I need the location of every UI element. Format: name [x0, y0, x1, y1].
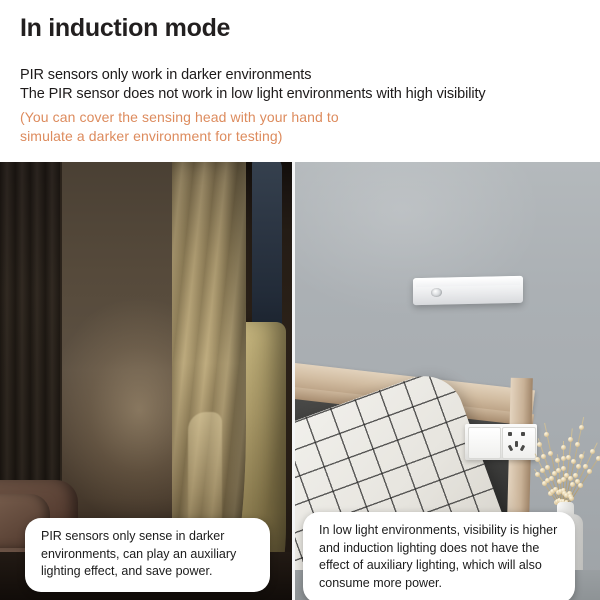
note-line-1: (You can cover the sensing head with you… — [20, 108, 339, 127]
flower-bud — [549, 476, 554, 481]
flower-bud — [571, 459, 576, 464]
flower-bud — [579, 425, 584, 430]
flower-bud — [590, 449, 595, 454]
flower-bud — [575, 442, 580, 447]
light-switch-icon — [468, 427, 501, 459]
flower-bud — [579, 454, 584, 459]
flower-bud — [561, 466, 566, 471]
socket-pin — [515, 441, 518, 447]
flower-bud — [568, 437, 573, 442]
header-text-block: In induction mode PIR sensors only work … — [0, 0, 600, 162]
flower-bud — [561, 445, 566, 450]
flower-bud — [561, 477, 566, 482]
flower-bud — [578, 483, 583, 488]
flower-bud — [545, 465, 550, 470]
note-line-2: simulate a darker environment for testin… — [20, 127, 283, 146]
page-root: In induction mode PIR sensors only work … — [0, 0, 600, 600]
caption-left-text: PIR sensors only sense in darker environ… — [41, 528, 256, 581]
caption-right-text: In low light environments, visibility is… — [319, 522, 561, 592]
flower-bud — [561, 456, 566, 461]
caption-bubble-right: In low light environments, visibility is… — [303, 512, 575, 600]
dried-flowers — [523, 412, 600, 512]
description-line-1: PIR sensors only work in darker environm… — [20, 66, 311, 85]
flower-bud — [541, 454, 546, 459]
flower-bud — [569, 496, 574, 501]
socket-pin — [508, 432, 512, 436]
flower-bud — [587, 469, 592, 474]
caption-bubble-left: PIR sensors only sense in darker environ… — [25, 518, 270, 592]
flower-bud — [583, 464, 588, 469]
flower-bud — [576, 464, 581, 469]
page-title: In induction mode — [20, 13, 230, 43]
flower-bud — [555, 458, 560, 463]
flower-bud — [573, 473, 578, 478]
description-line-2: The PIR sensor does not work in low ligh… — [20, 85, 486, 104]
flower-bud — [568, 476, 573, 481]
flower-bud — [596, 456, 600, 461]
